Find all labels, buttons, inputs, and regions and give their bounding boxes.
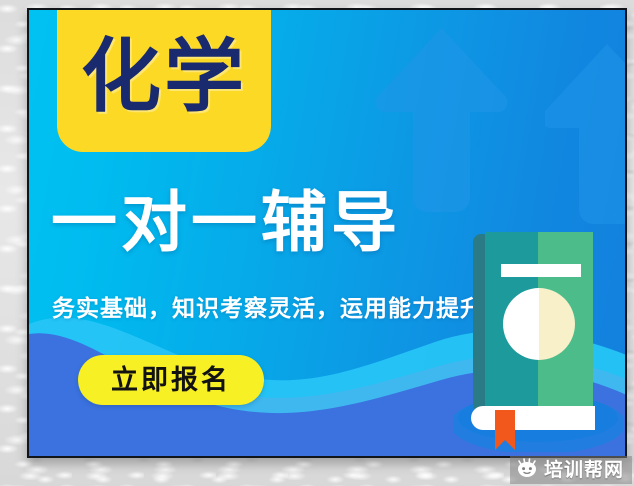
watermark-text: 培训帮网 xyxy=(544,461,624,480)
promotional-banner: 化学 一对一辅导 务实基础，知识考察灵活，运用能力提升 立即报名 xyxy=(27,8,627,458)
page-backdrop: 化学 一对一辅导 务实基础，知识考察灵活，运用能力提升 立即报名 xyxy=(0,0,634,486)
page-title: 一对一辅导 xyxy=(51,190,401,256)
enroll-now-button-label: 立即报名 xyxy=(111,367,231,394)
banner-subtitle: 务实基础，知识考察灵活，运用能力提升 xyxy=(52,298,484,321)
watermark: 培训帮网 xyxy=(510,456,632,484)
enroll-now-button[interactable]: 立即报名 xyxy=(78,355,264,405)
sun-face-icon xyxy=(516,458,538,482)
subject-badge-label: 化学 xyxy=(81,37,247,123)
up-arrow-icon-secondary xyxy=(545,44,627,224)
subject-badge: 化学 xyxy=(57,8,271,152)
book-icon xyxy=(453,222,623,452)
